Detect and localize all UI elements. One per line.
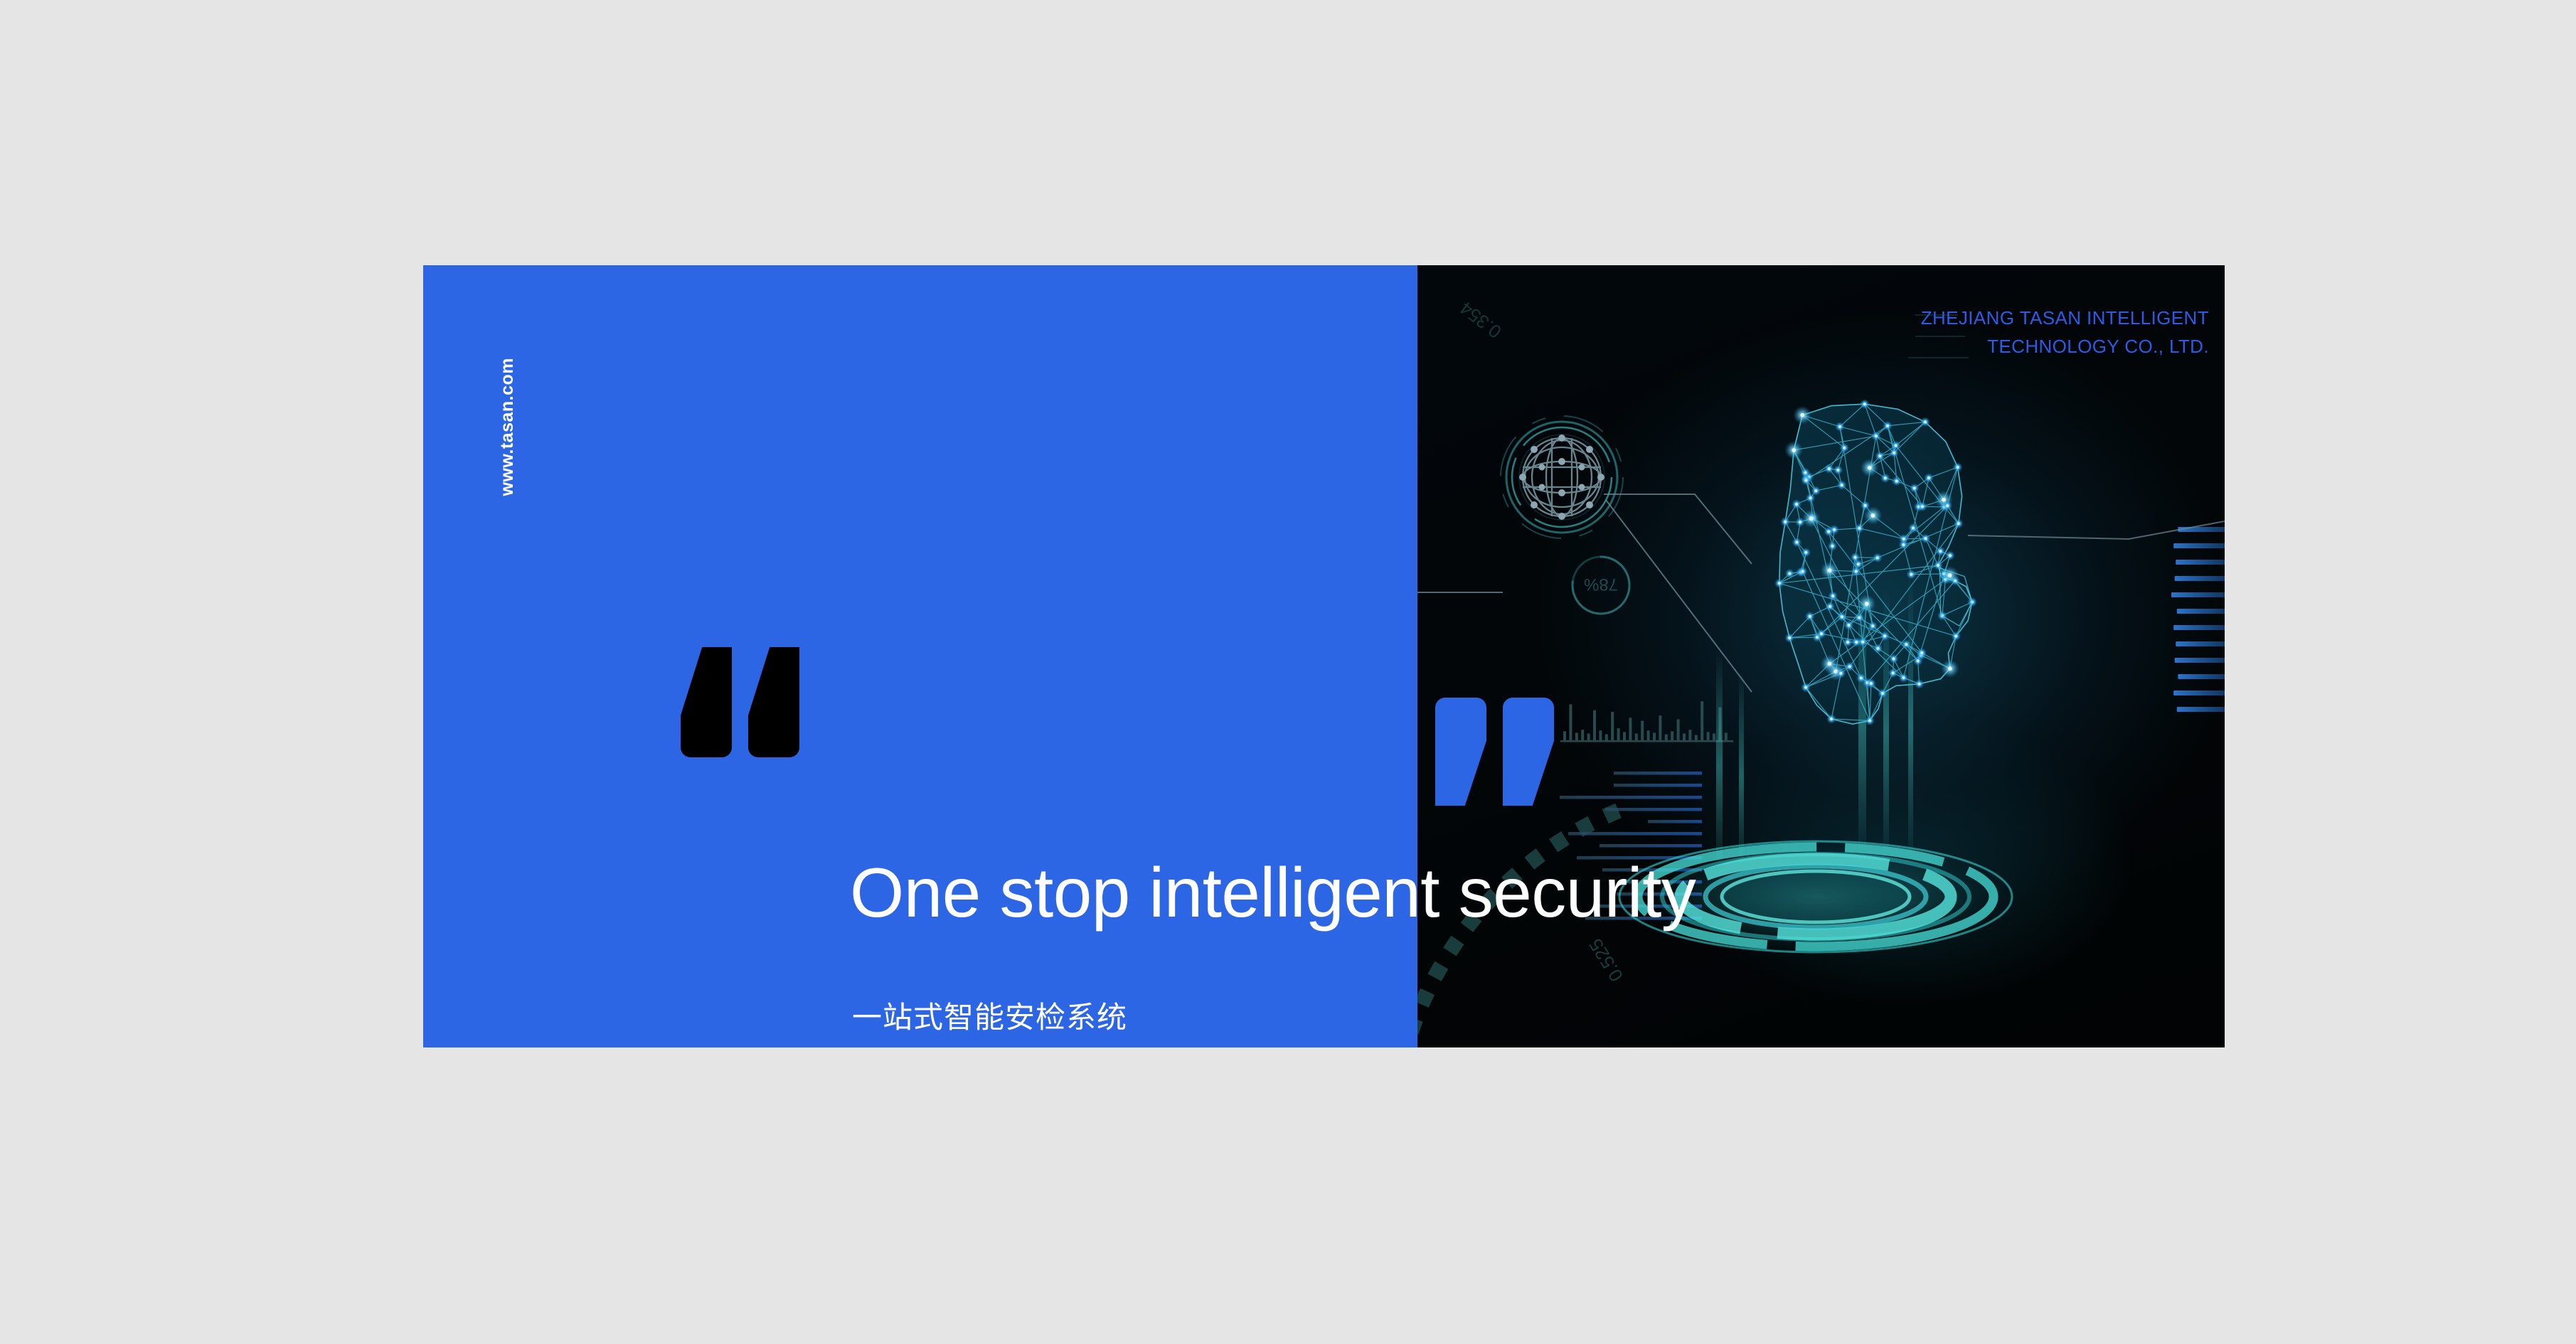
spectrum-bar-chart bbox=[1560, 701, 1733, 742]
bar bbox=[2178, 527, 2225, 532]
bar bbox=[1623, 732, 1626, 740]
bar bbox=[2173, 690, 2225, 695]
bar bbox=[1581, 730, 1584, 740]
bar bbox=[1701, 701, 1703, 740]
bar bbox=[1713, 734, 1715, 740]
presentation-slide: www.tasan.com 一站式智能安检系统 bbox=[423, 265, 2225, 1047]
bar bbox=[1569, 704, 1572, 740]
left-blue-panel: www.tasan.com 一站式智能安检系统 bbox=[423, 265, 1417, 1047]
bar bbox=[1641, 721, 1644, 740]
bar bbox=[1725, 732, 1728, 740]
bar bbox=[2173, 625, 2225, 630]
bar bbox=[2177, 609, 2225, 614]
bar bbox=[1683, 734, 1686, 740]
bar bbox=[1575, 732, 1578, 740]
bar bbox=[1614, 784, 1702, 787]
bar bbox=[1653, 732, 1656, 740]
company-name: ZHEJIANG TASAN INTELLIGENT TECHNOLOGY CO… bbox=[1921, 304, 2209, 361]
bar bbox=[1600, 844, 1702, 848]
bar bbox=[1695, 735, 1698, 740]
bar bbox=[1629, 718, 1632, 740]
bar bbox=[2178, 674, 2225, 679]
bar bbox=[1563, 731, 1566, 740]
bar bbox=[1593, 710, 1596, 740]
bar bbox=[1707, 732, 1710, 740]
bar bbox=[1688, 730, 1691, 740]
bar bbox=[2175, 576, 2225, 581]
subtitle-chinese: 一站式智能安检系统 bbox=[852, 993, 1127, 1037]
arc-label-bottom: 0.525 bbox=[1585, 935, 1627, 986]
bar bbox=[1568, 832, 1702, 836]
bar bbox=[2175, 658, 2225, 663]
bar bbox=[2176, 641, 2225, 646]
right-dark-panel: 0.354 0.525 bbox=[1417, 265, 2225, 1047]
bar bbox=[1599, 730, 1602, 740]
bar bbox=[2176, 560, 2225, 565]
bar bbox=[1605, 808, 1702, 811]
bar bbox=[1671, 731, 1673, 740]
bar bbox=[1605, 735, 1608, 740]
bar bbox=[1659, 715, 1661, 740]
hud-graphics: 0.354 0.525 bbox=[1417, 265, 2225, 1047]
opening-quote-icon bbox=[681, 647, 809, 761]
head-outline bbox=[1779, 404, 1972, 724]
right-edge-bar-chart bbox=[2171, 527, 2225, 712]
holographic-platform-icon bbox=[1609, 837, 2022, 956]
gauge-label: 78% bbox=[1584, 575, 1618, 594]
wireframe-head-icon bbox=[1774, 399, 2225, 725]
bar bbox=[1617, 728, 1620, 740]
bar bbox=[2173, 543, 2225, 548]
gauge-78: 78% bbox=[1572, 556, 1631, 615]
bar bbox=[1587, 734, 1590, 740]
fullerene-sphere-icon bbox=[1501, 416, 1623, 538]
bar bbox=[1647, 730, 1650, 740]
bar bbox=[1611, 712, 1614, 740]
closing-quote-icon bbox=[1435, 698, 1563, 810]
arc-label-top: 0.354 bbox=[1456, 297, 1506, 343]
bar bbox=[2171, 592, 2225, 597]
bar bbox=[1560, 796, 1702, 799]
bar bbox=[1614, 772, 1702, 775]
bar bbox=[1635, 734, 1638, 740]
bar bbox=[1648, 820, 1702, 823]
bar bbox=[2177, 707, 2225, 712]
axis bbox=[1560, 740, 1733, 742]
bar bbox=[1665, 735, 1668, 740]
bar bbox=[1677, 719, 1680, 740]
website-url-vertical[interactable]: www.tasan.com bbox=[497, 358, 518, 496]
